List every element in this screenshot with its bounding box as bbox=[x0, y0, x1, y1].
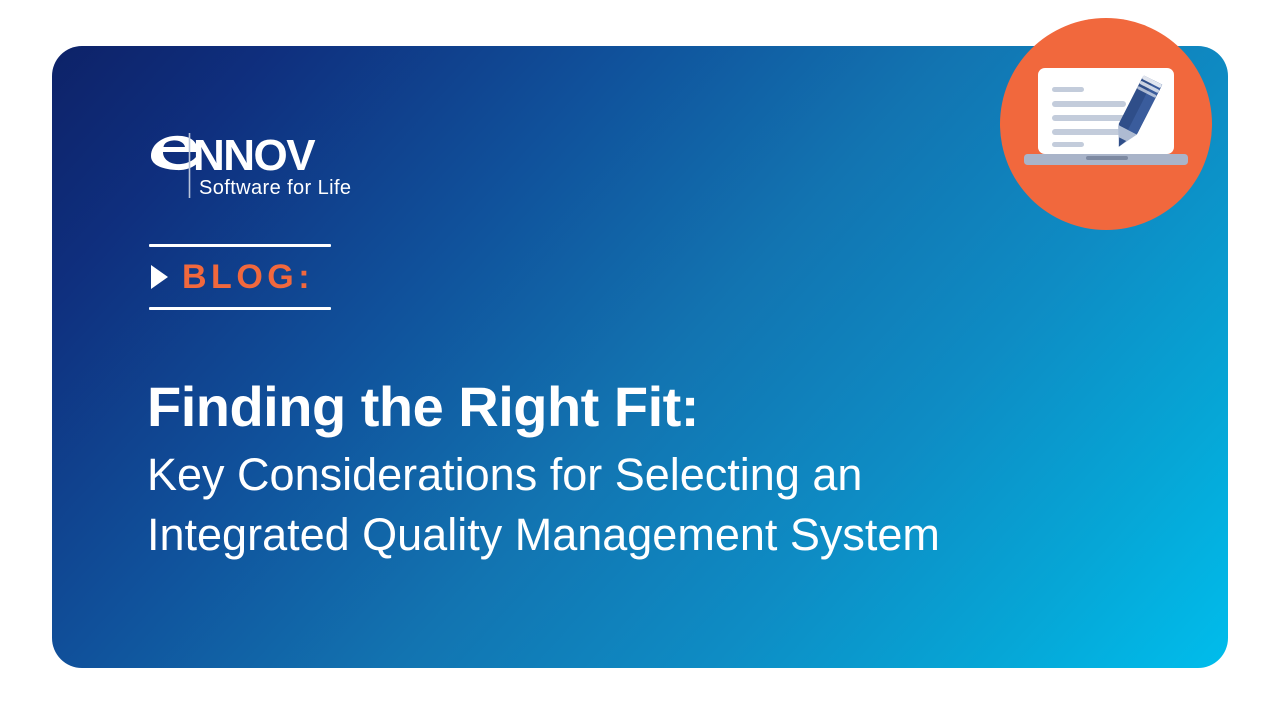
laptop-with-pencil-icon bbox=[1000, 18, 1212, 230]
screen-text-line-4 bbox=[1052, 129, 1126, 135]
laptop-with-pencil-illustration bbox=[1000, 18, 1212, 230]
logo-tagline: Software for Life bbox=[199, 177, 351, 199]
page-subtitle-line-1: Key Considerations for Selecting an bbox=[147, 445, 1147, 506]
screen-text-line-1 bbox=[1052, 87, 1084, 92]
play-triangle-icon bbox=[151, 265, 168, 289]
eyebrow-row: BLOG: bbox=[149, 247, 331, 307]
blog-eyebrow: BLOG: bbox=[149, 244, 331, 310]
ennov-logo[interactable]: NNOV Software for Life bbox=[149, 128, 409, 208]
headline-block: Finding the Right Fit: Key Consideration… bbox=[147, 376, 1147, 566]
page-subtitle-line-2: Integrated Quality Management System bbox=[147, 505, 1147, 566]
poster-canvas: NNOV Software for Life BLOG: Finding the… bbox=[0, 0, 1280, 720]
laptop-trackpad-notch bbox=[1086, 156, 1128, 160]
page-subtitle: Key Considerations for Selecting an Inte… bbox=[147, 445, 1147, 567]
eyebrow-rule-bottom bbox=[149, 307, 331, 310]
screen-text-line-5 bbox=[1052, 142, 1084, 147]
ennov-logo-svg: NNOV Software for Life bbox=[149, 128, 409, 208]
logo-wordmark: NNOV bbox=[193, 131, 316, 180]
screen-text-line-3 bbox=[1052, 115, 1126, 121]
page-title: Finding the Right Fit: bbox=[147, 376, 1147, 439]
eyebrow-label: BLOG: bbox=[182, 260, 314, 294]
screen-text-line-2 bbox=[1052, 101, 1126, 107]
